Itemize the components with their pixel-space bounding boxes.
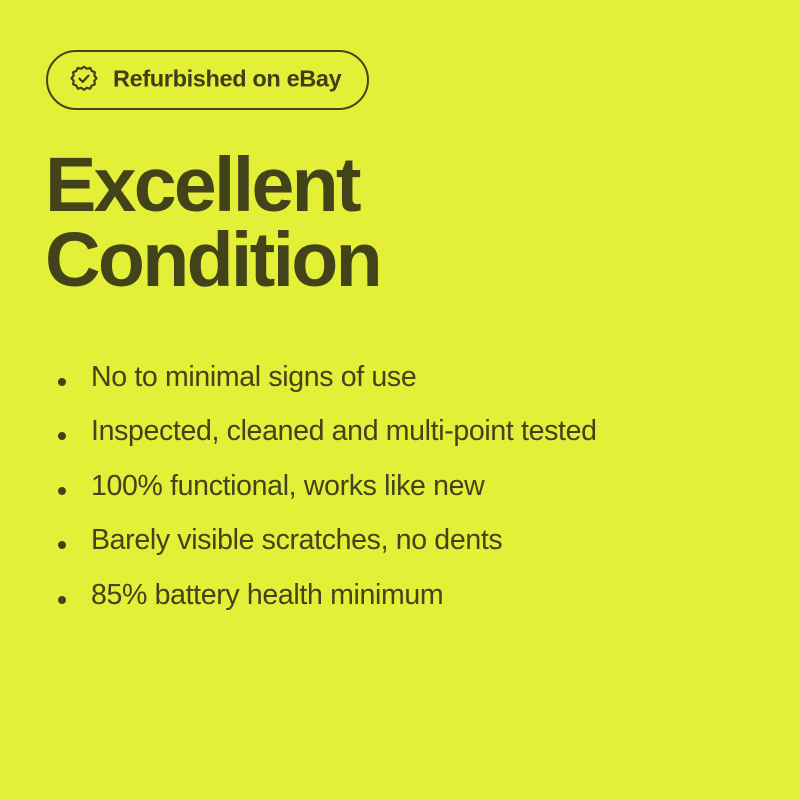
list-item: Barely visible scratches, no dents <box>46 525 597 579</box>
bullet-dot-icon <box>58 596 66 604</box>
list-item-label: 85% battery health minimum <box>91 580 443 612</box>
list-item: 100% functional, works like new <box>46 471 597 525</box>
condition-feature-list: No to minimal signs of use Inspected, cl… <box>46 362 597 634</box>
refurbished-badge[interactable]: Refurbished on eBay <box>46 50 369 110</box>
verified-rosette-check-icon <box>69 65 99 95</box>
refurbished-badge-label: Refurbished on eBay <box>113 68 341 92</box>
list-item-label: 100% functional, works like new <box>91 471 484 503</box>
list-item-label: Barely visible scratches, no dents <box>91 525 502 557</box>
bullet-dot-icon <box>58 541 66 549</box>
bullet-dot-icon <box>58 432 66 440</box>
list-item-label: Inspected, cleaned and multi-point teste… <box>91 416 597 448</box>
list-item: 85% battery health minimum <box>46 580 597 634</box>
list-item: Inspected, cleaned and multi-point teste… <box>46 416 597 470</box>
list-item: No to minimal signs of use <box>46 362 597 416</box>
refurbished-condition-card: Refurbished on eBay Excellent Condition … <box>0 0 800 800</box>
page-title: Excellent Condition <box>45 148 380 299</box>
page-title-line-2: Condition <box>45 223 380 298</box>
bullet-dot-icon <box>58 487 66 495</box>
page-title-line-1: Excellent <box>45 148 380 223</box>
bullet-dot-icon <box>58 378 66 386</box>
list-item-label: No to minimal signs of use <box>91 362 416 394</box>
